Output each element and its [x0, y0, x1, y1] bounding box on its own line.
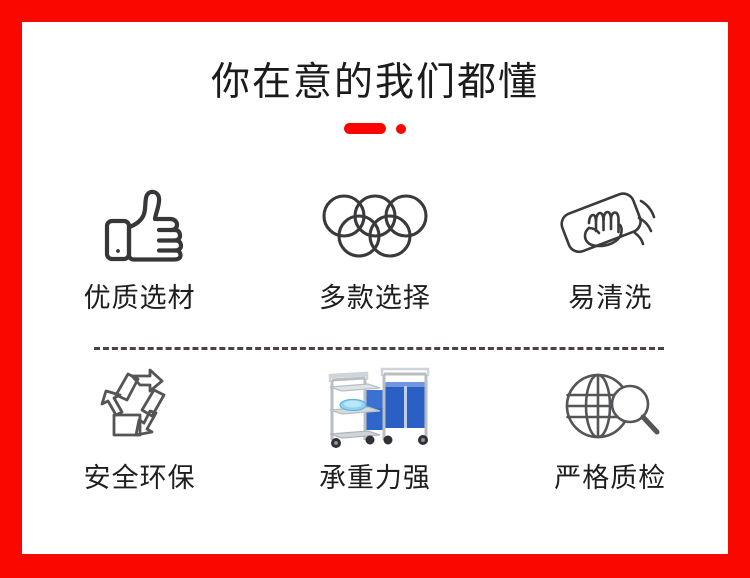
hand-wiping-cloth-icon [545, 180, 675, 272]
feature-row-top: 优质选材 多款选择 [22, 180, 728, 316]
feature-item-multiple-choices: 多款选择 [257, 180, 492, 316]
feature-row-bottom: 安全环保 [22, 360, 728, 496]
globe-magnifier-icon [545, 360, 675, 452]
feature-label: 承重力强 [319, 462, 431, 496]
feature-label: 多款选择 [319, 282, 431, 316]
feature-label: 安全环保 [84, 462, 196, 496]
medical-trolley-photo [310, 360, 440, 452]
feature-label: 易清洗 [568, 282, 652, 316]
recycle-icon [75, 360, 205, 452]
title-underline-decoration [344, 123, 406, 134]
feature-label: 优质选材 [84, 282, 196, 316]
underline-dot [396, 124, 406, 134]
thumbs-up-icon [75, 180, 205, 272]
feature-item-load-bearing: 承重力强 [257, 360, 492, 496]
feature-label: 严格质检 [554, 462, 666, 496]
five-rings-icon [310, 180, 440, 272]
promo-content-panel: 你在意的我们都懂 [22, 22, 728, 554]
feature-item-eco-friendly: 安全环保 [22, 360, 257, 496]
heading-block: 你在意的我们都懂 [22, 60, 728, 134]
feature-item-easy-to-clean: 易清洗 [493, 180, 728, 316]
product-photo [310, 360, 440, 452]
red-border-frame: 你在意的我们都懂 [0, 0, 750, 578]
feature-item-quality-material: 优质选材 [22, 180, 257, 316]
feature-item-quality-inspection: 严格质检 [493, 360, 728, 496]
page-title: 你在意的我们都懂 [22, 60, 728, 106]
dashed-divider [94, 347, 664, 350]
underline-bar [344, 123, 386, 134]
